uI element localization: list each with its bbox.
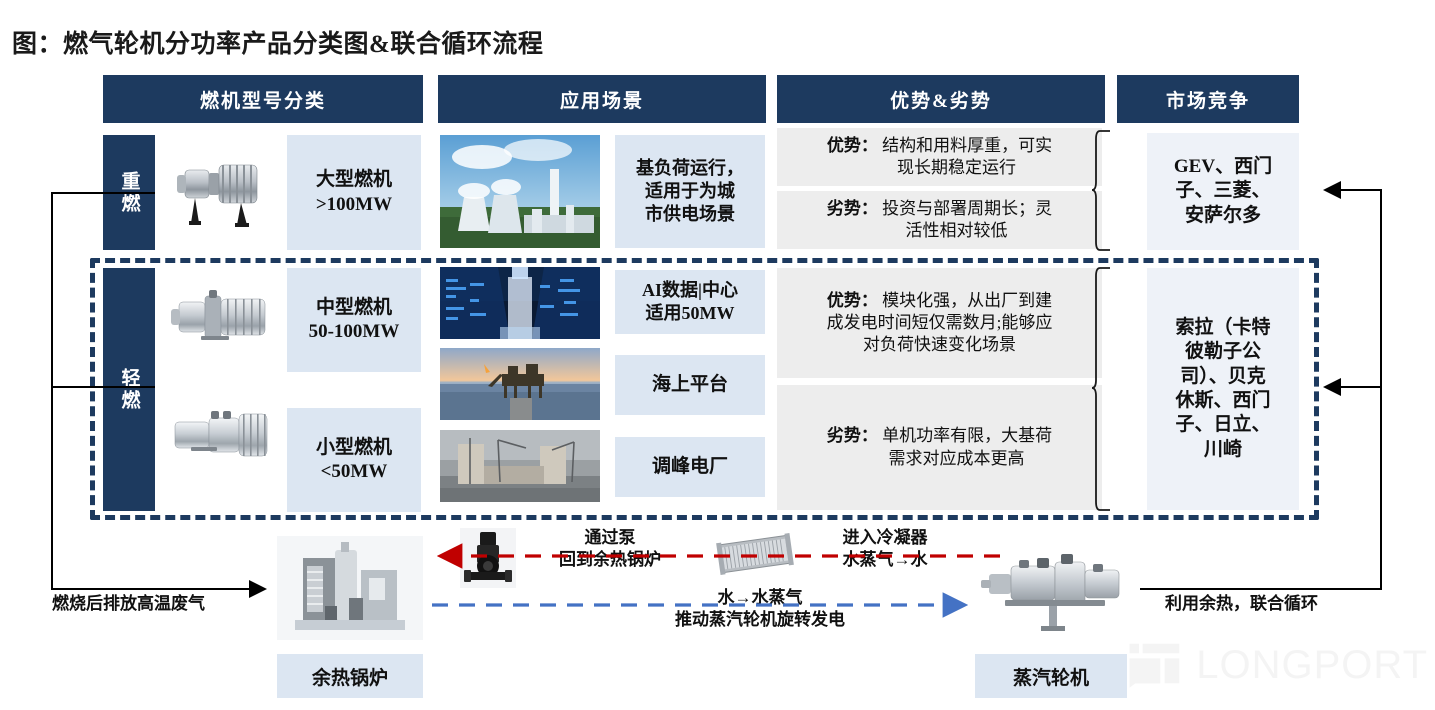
scenario-box-peaking: 调峰电厂 (615, 437, 765, 497)
peaking-power-plant-photo (440, 430, 600, 502)
recycle-flow-label: 利用余热，联合循环 (1165, 593, 1318, 615)
cons-box-heavy: 劣势： 投资与部署周期长；灵活性相对较低 (777, 191, 1102, 249)
steam-turbine-caption-box: 蒸汽轮机 (975, 654, 1127, 698)
model-box-medium: 中型燃机50-100MW (287, 268, 421, 372)
cons-box-light: 劣势： 单机功率有限，大基荷需求对应成本更高 (777, 385, 1102, 510)
model-small-text: 小型燃机<50MW (316, 436, 392, 485)
column-header-model: 燃机型号分类 (103, 75, 423, 123)
competition-heavy-text: GEV、西门子、三菱、安萨尔多 (1174, 155, 1272, 228)
model-box-large: 大型燃机>100MW (287, 135, 421, 250)
longport-watermark: LONGPORT (1128, 628, 1428, 702)
competition-light-text: 索拉（卡特彼勒子公司）、贝克休斯、西门子、日立、川崎 (1175, 316, 1270, 462)
steam-flow-label: 水→水蒸气推动蒸汽轮机旋转发电 (620, 587, 900, 632)
scenario-box-ai-datacenter: AI数据|中心适用50MW (615, 270, 765, 334)
small-gas-turbine-photo (165, 390, 283, 480)
scenario-baseload-text: 基负荷运行，适用于为城市供电场景 (636, 157, 744, 226)
pros-heavy-text: 优势： 结构和用料厚重，可实现长期稳定运行 (827, 135, 1052, 179)
heat-recovery-steam-generator-photo (277, 536, 423, 640)
offshore-platform-photo (440, 348, 600, 420)
pros-box-light: 优势： 模块化强，从出厂到建成发电时间短仅需数月;能够应对负荷快速变化场景 (777, 268, 1102, 378)
exhaust-flow-label: 燃烧后排放高温废气 (52, 593, 205, 615)
model-box-small: 小型燃机<50MW (287, 408, 421, 512)
steam-turbine-photo (975, 540, 1135, 640)
model-large-text: 大型燃机>100MW (316, 168, 392, 217)
page-title: 图：燃气轮机分功率产品分类图&联合循环流程 (12, 24, 543, 60)
longport-watermark-text: LONGPORT (1196, 643, 1428, 688)
scenario-box-offshore: 海上平台 (615, 355, 765, 415)
ai-data-center-photo (440, 267, 600, 339)
category-bar-light: 轻燃 (103, 268, 155, 511)
scenario-ai-text: AI数据|中心适用50MW (642, 279, 738, 325)
model-medium-text: 中型燃机50-100MW (309, 296, 400, 345)
scenario-box-baseload: 基负荷运行，适用于为城市供电场景 (615, 135, 765, 248)
column-header-scenario: 应用场景 (438, 75, 766, 123)
medium-gas-turbine-photo (165, 272, 283, 362)
competition-box-light: 索拉（卡特彼勒子公司）、贝克休斯、西门子、日立、川崎 (1147, 268, 1299, 510)
pump-flow-label: 通过泵回到余热锅炉 (520, 527, 700, 572)
category-bar-heavy: 重燃 (103, 135, 155, 250)
competition-box-heavy: GEV、西门子、三菱、安萨尔多 (1147, 133, 1299, 250)
hrsg-caption-box: 余热锅炉 (277, 654, 423, 698)
condenser-flow-label: 进入冷凝器水蒸气→水 (795, 527, 975, 572)
pros-box-heavy: 优势： 结构和用料厚重，可实现长期稳定运行 (777, 128, 1102, 186)
heavy-duty-gas-turbine-photo (165, 137, 275, 247)
longport-logo-icon (1128, 634, 1182, 696)
water-pump-photo (460, 528, 516, 588)
pros-light-text: 优势： 模块化强，从出厂到建成发电时间短仅需数月;能够应对负荷快速变化场景 (827, 290, 1053, 356)
power-plant-cooling-tower-photo (440, 135, 600, 248)
cons-heavy-text: 劣势： 投资与部署周期长；灵活性相对较低 (827, 198, 1052, 242)
column-header-competition: 市场竞争 (1117, 75, 1299, 123)
condenser-radiator-photo (710, 530, 800, 578)
cons-light-text: 劣势： 单机功率有限，大基荷需求对应成本更高 (827, 425, 1052, 469)
column-header-proscons: 优势&劣势 (777, 75, 1105, 123)
